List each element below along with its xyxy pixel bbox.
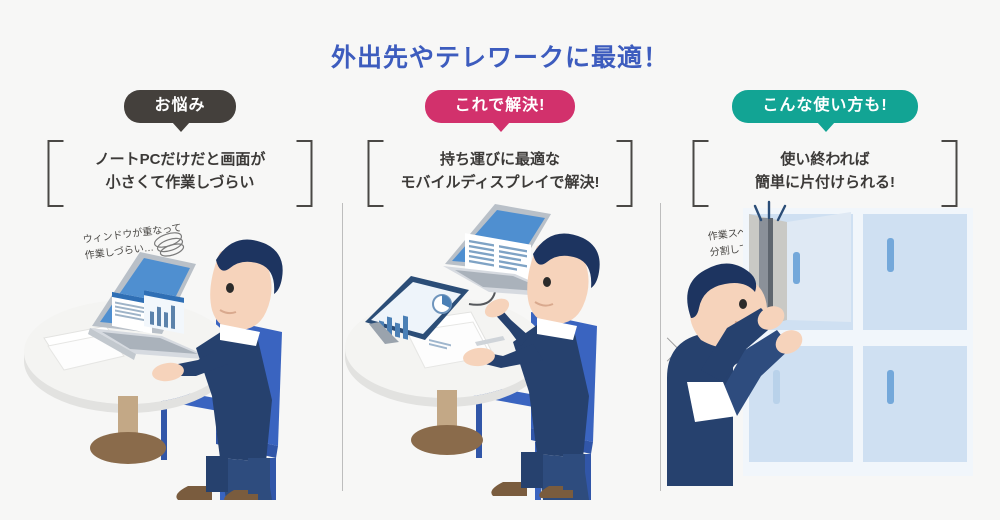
illustration-usage [665, 200, 985, 500]
caption-usage: 使い終われば 簡単に片付けられる! [693, 140, 958, 203]
caption-usage-line1: 使い終われば [723, 148, 928, 171]
scribble-icon [153, 230, 185, 258]
column-solution: これで解決! 持ち運びに最適な モバイルディスプレイで解決! 作業スペースが増え… [345, 0, 655, 520]
bracket-right-icon [942, 140, 958, 207]
caption-problem-line1: ノートPCだけだと画面が [78, 148, 283, 171]
bracket-left-icon [48, 140, 64, 207]
divider-2-3 [660, 203, 661, 491]
caption-solution-line2: モバイルディスプレイで解決! [398, 171, 603, 194]
bracket-right-icon [617, 140, 633, 207]
badge-container-usage: こんな使い方も! [665, 90, 985, 123]
locker-handle [887, 370, 894, 404]
caption-problem-line2: 小さくて作業しづらい [78, 171, 283, 194]
badge-usage: こんな使い方も! [732, 90, 917, 123]
laptop-screen-windows [112, 290, 184, 334]
caption-solution: 持ち運びに最適な モバイルディスプレイで解決! [368, 140, 633, 203]
bracket-right-icon [297, 140, 313, 207]
caption-solution-line1: 持ち運びに最適な [398, 148, 603, 171]
badge-solution: これで解決! [425, 90, 576, 123]
badge-container-problem: お悩み [20, 90, 340, 123]
illustration-solution [345, 200, 655, 500]
locker-handle [773, 370, 780, 404]
divider-1-2 [342, 203, 343, 491]
scene-man-storing-monitor-in-locker [665, 200, 985, 500]
column-problem: お悩み ノートPCだけだと画面が 小さくて作業しづらい ウィンドウが重なって 作… [20, 0, 340, 520]
caption-usage-line2: 簡単に片付けられる! [723, 171, 928, 194]
infographic-root: 外出先やテレワークに最適！ お悩み ノートPCだけだと画面が 小さくて作業しづら… [0, 0, 1000, 520]
illustration-problem [20, 200, 340, 500]
scene-man-at-table-with-laptop [20, 200, 340, 500]
badge-container-solution: これで解決! [345, 90, 655, 123]
scene-man-with-laptop-and-portable-monitor [345, 200, 655, 500]
bracket-left-icon [368, 140, 384, 207]
bracket-left-icon [693, 140, 709, 207]
locker-handle [887, 238, 894, 272]
caption-problem: ノートPCだけだと画面が 小さくて作業しづらい [48, 140, 313, 203]
column-usage: こんな使い方も! 使い終われば 簡単に片付けられる! [665, 0, 985, 520]
badge-problem: お悩み [124, 90, 235, 123]
